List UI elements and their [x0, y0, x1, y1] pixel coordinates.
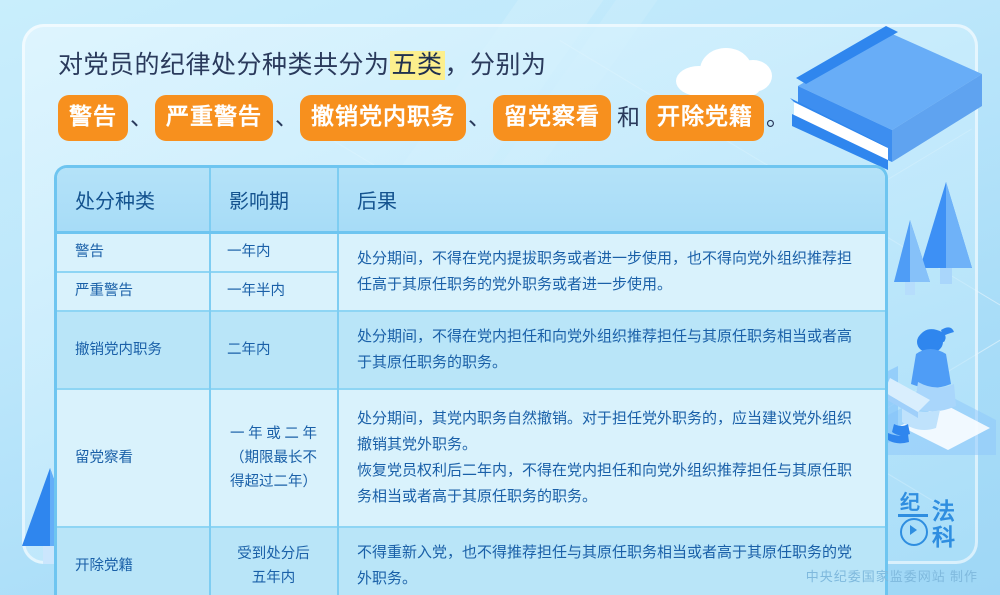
- cell-consequence: 不得重新入党，也不得推荐担任与其原任职务相当或者高于其原任职务的党外职务。: [338, 527, 885, 595]
- logo-underline: [898, 514, 928, 517]
- header-kind: 处分种类: [57, 168, 210, 233]
- infographic-canvas: 对党员的纪律处分种类共分为五类，分别为 警告、严重警告、撤销党内职务、留党察看和…: [0, 0, 1000, 595]
- separator-2: 、: [273, 105, 300, 130]
- cell-kind: 警告: [57, 233, 210, 272]
- cell-period: 一年内: [210, 233, 338, 272]
- cell-consequence: 处分期间，其党内职务自然撤销。对于担任党外职务的，应当建议党外组织撤销其党外职务…: [338, 389, 885, 527]
- headline-text-post: ，分别为: [445, 52, 547, 79]
- headline: 对党员的纪律处分种类共分为五类，分别为 警告、严重警告、撤销党内职务、留党察看和…: [58, 46, 698, 141]
- tag-expulsion: 开除党籍: [646, 95, 764, 141]
- tag-warning: 警告: [58, 95, 128, 141]
- headline-line-2: 警告、严重警告、撤销党内职务、留党察看和开除党籍。: [58, 95, 698, 141]
- separator-3: 、: [466, 105, 493, 130]
- brand-logo: 纪 法 百 科: [898, 492, 964, 550]
- logo-char-fa: 法: [932, 502, 955, 522]
- header-period: 影响期: [210, 168, 338, 233]
- cell-kind: 留党察看: [57, 389, 210, 527]
- logo-play-triangle: [910, 525, 917, 535]
- cell-kind: 开除党籍: [57, 527, 210, 595]
- cell-period: 一 年 或 二 年 （期限最长不 得超过二年）: [210, 389, 338, 527]
- cell-kind: 严重警告: [57, 272, 210, 311]
- tag-remove-post: 撤销党内职务: [300, 95, 466, 141]
- headline-highlight: 五类: [390, 51, 445, 80]
- table-row: 撤销党内职务 二年内 处分期间，不得在党内担任和向党外组织推荐担任与其原任职务相…: [57, 311, 885, 389]
- book-illustration: [770, 18, 1000, 193]
- table-row: 留党察看 一 年 或 二 年 （期限最长不 得超过二年） 处分期间，其党内职务自…: [57, 389, 885, 527]
- headline-text-pre: 对党员的纪律处分种类共分为: [58, 52, 390, 79]
- cell-period: 二年内: [210, 311, 338, 389]
- credit-text: 中央纪委国家监委网站 制作: [806, 566, 978, 585]
- cell-consequence: 处分期间，不得在党内提拔职务或者进一步使用，也不得向党外组织推荐担任高于其原任职…: [338, 233, 885, 312]
- header-consequence: 后果: [338, 168, 885, 233]
- separator-1: 、: [128, 105, 155, 130]
- full-stop: 。: [764, 105, 791, 130]
- cell-period: 一年半内: [210, 272, 338, 311]
- logo-char-ke: 科: [932, 528, 955, 548]
- cell-consequence: 处分期间，不得在党内担任和向党外组织推荐担任与其原任职务相当或者高于其原任职务的…: [338, 311, 885, 389]
- headline-line-1: 对党员的纪律处分种类共分为五类，分别为: [58, 46, 698, 86]
- cell-kind: 撤销党内职务: [57, 311, 210, 389]
- tag-probation: 留党察看: [493, 95, 611, 141]
- table-header-row: 处分种类 影响期 后果: [57, 168, 885, 233]
- conjunction: 和: [611, 105, 646, 130]
- tree-decoration-right: [894, 176, 998, 331]
- person-with-laptop-illustration: [878, 320, 996, 455]
- tag-serious-warning: 严重警告: [155, 95, 273, 141]
- table-row: 警告 一年内 处分期间，不得在党内提拔职务或者进一步使用，也不得向党外组织推荐担…: [57, 233, 885, 272]
- penalty-table: 处分种类 影响期 后果 警告 一年内 处分期间，不得在党内提拔职务或者进一步使用…: [57, 168, 885, 595]
- table-row: 开除党籍 受到处分后 五年内 不得重新入党，也不得推荐担任与其原任职务相当或者高…: [57, 527, 885, 595]
- logo-char-ji: 纪: [900, 492, 920, 512]
- cell-period: 受到处分后 五年内: [210, 527, 338, 595]
